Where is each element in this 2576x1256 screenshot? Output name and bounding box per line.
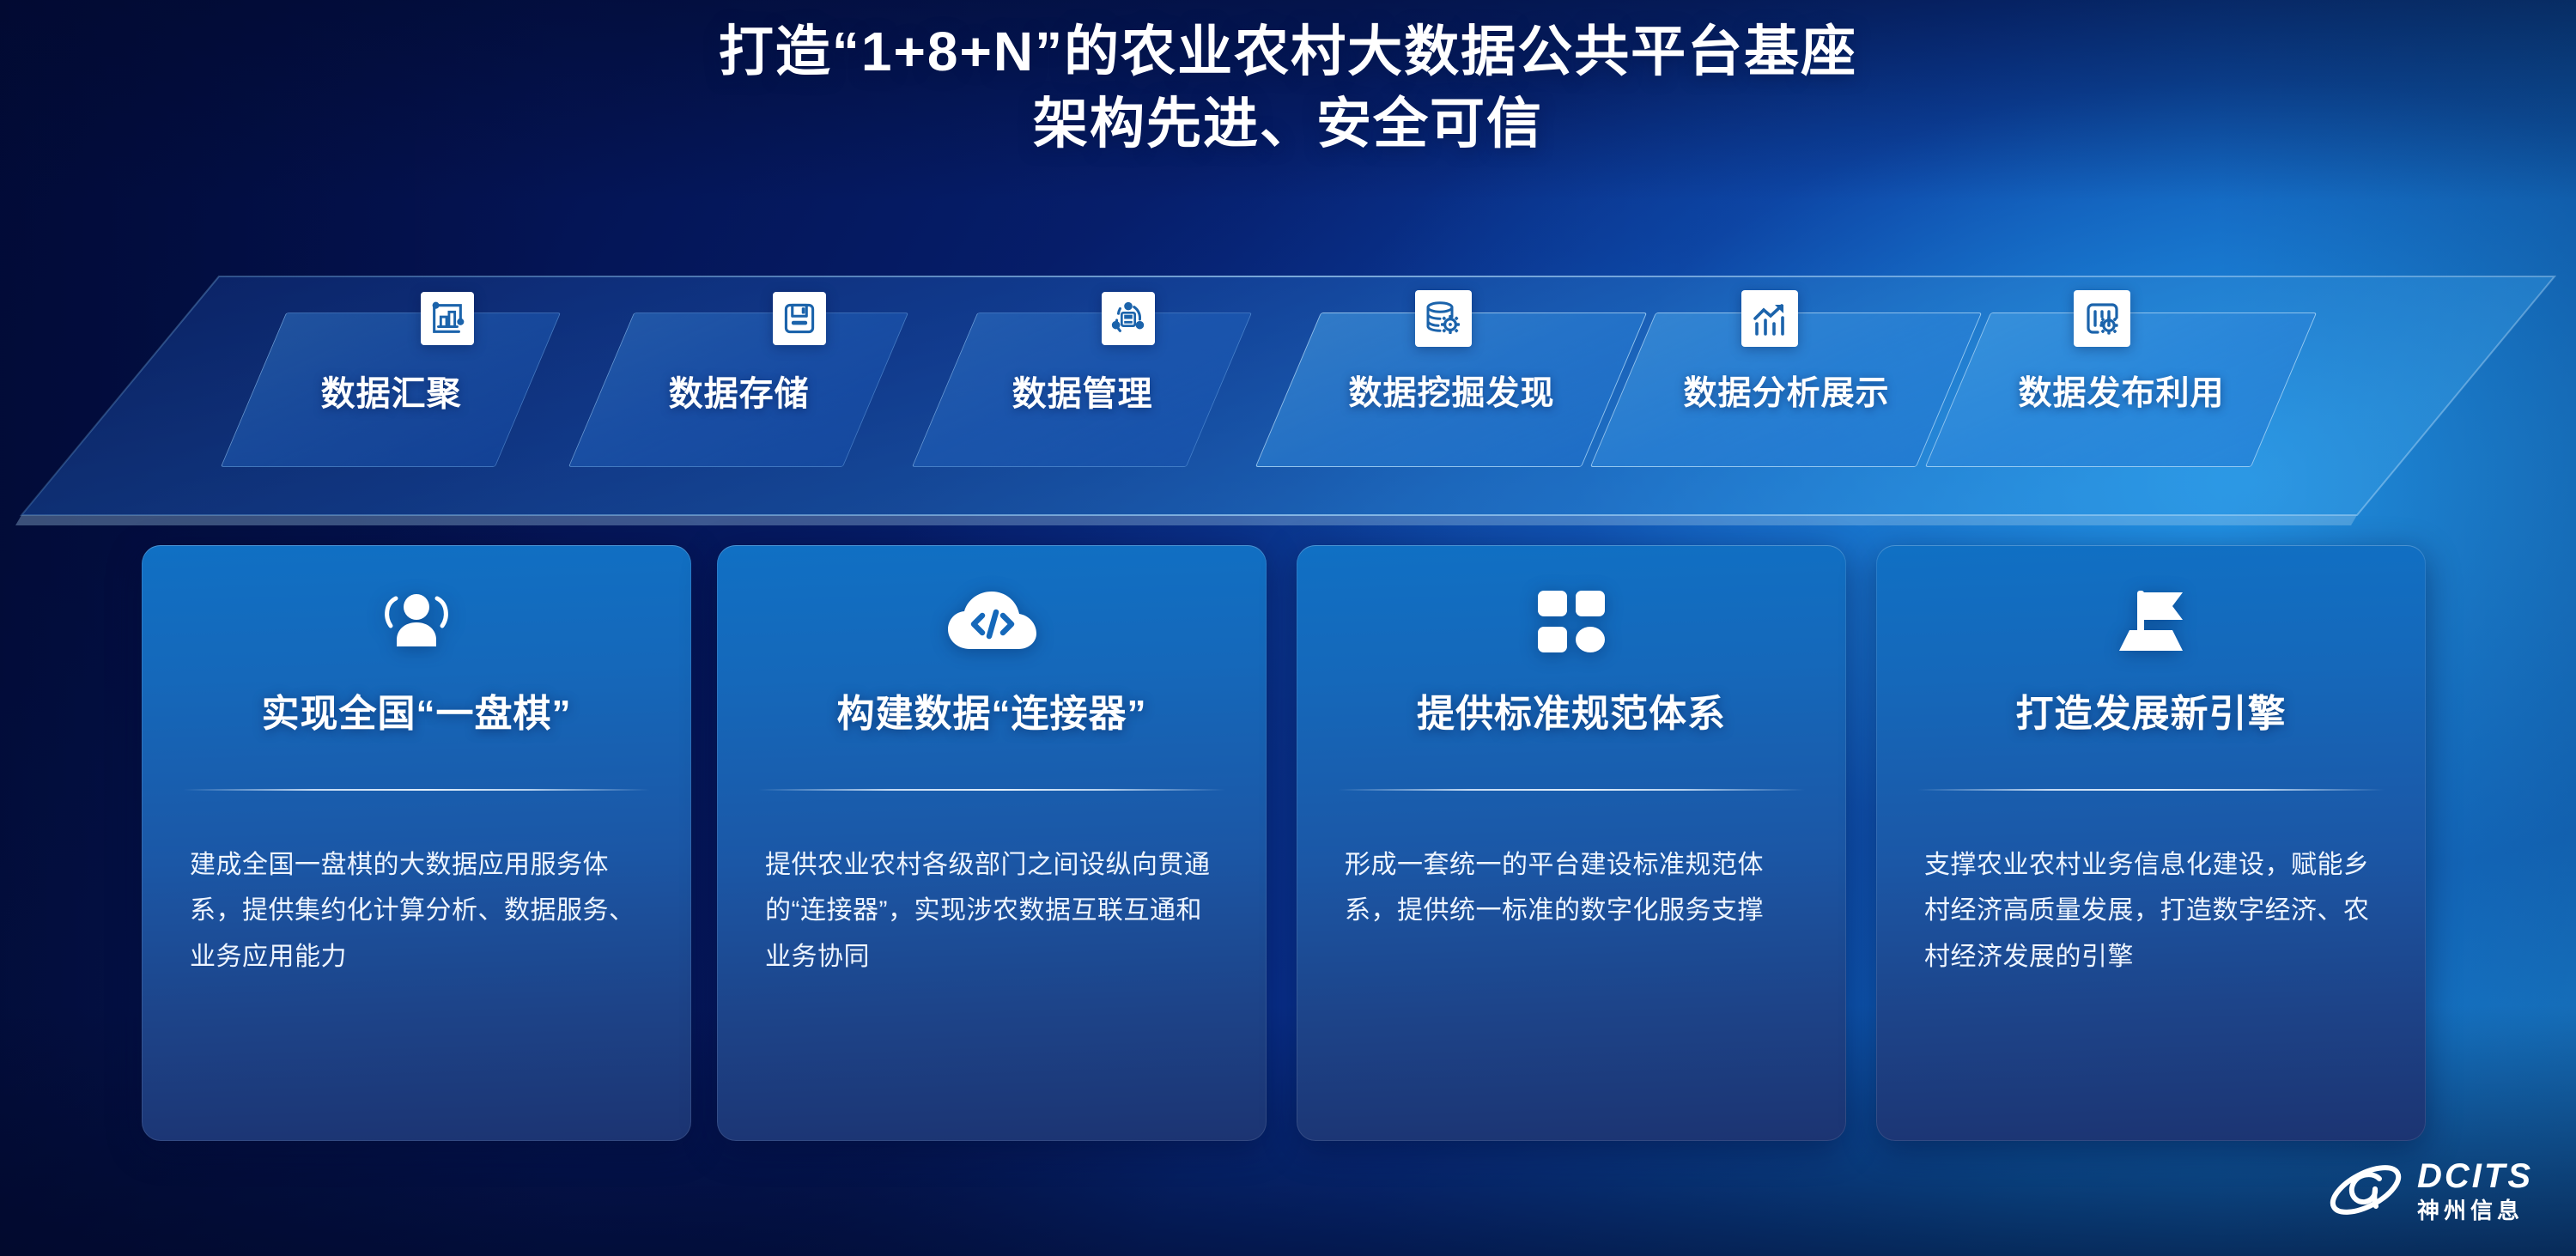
benefit-card-1[interactable]: 实现全国“一盘棋” 建成全国一盘棋的大数据应用服务体系，提供集约化计算分析、数据… xyxy=(142,545,691,1141)
card-divider xyxy=(1917,789,2385,791)
pipeline-row: 数据汇聚 数据存储 xyxy=(0,258,2576,541)
benefit-card-1-title: 实现全国“一盘棋” xyxy=(142,683,691,737)
benefit-card-3[interactable]: 提供标准规范体系 形成一套统一的平台建设标准规范体系，提供统一标准的数字化服务支… xyxy=(1297,545,1846,1141)
card-divider xyxy=(758,789,1225,791)
bar-chart-frame-icon xyxy=(421,292,474,345)
benefit-card-4[interactable]: 打造发展新引擎 支撑农业农村业务信息化建设，赋能乡村经济高质量发展，打造数字经济… xyxy=(1876,545,2426,1141)
data-network-icon xyxy=(1102,292,1155,345)
benefit-card-2[interactable]: 构建数据“连接器” 提供农业农村各级部门之间设纵向贯通的“连接器”，实现涉农数据… xyxy=(717,545,1267,1141)
slide-canvas: 打造“1+8+N”的农业农村大数据公共平台基座 架构先进、安全可信 xyxy=(0,0,2576,1256)
benefit-card-3-body: 形成一套统一的平台建设标准规范体系，提供统一标准的数字化服务支撑 xyxy=(1345,842,1800,934)
title-line-2: 架构先进、安全可信 xyxy=(0,88,2576,160)
database-gear-icon xyxy=(1415,290,1472,347)
users-group-icon xyxy=(142,585,691,658)
benefit-card-3-title: 提供标准规范体系 xyxy=(1297,683,1846,737)
benefit-card-4-title: 打造发展新引擎 xyxy=(1876,683,2426,737)
cloud-code-icon xyxy=(717,585,1267,658)
benefit-card-2-body: 提供农业农村各级部门之间设纵向贯通的“连接器”，实现涉农数据互联互通和业务协同 xyxy=(765,842,1220,980)
pipeline-step-3[interactable]: 数据管理 xyxy=(912,312,1252,467)
pipeline-step-3-label: 数据管理 xyxy=(945,313,1220,468)
logo-cn-text: 神州信息 xyxy=(2417,1199,2533,1222)
pipeline-step-1-label: 数据汇聚 xyxy=(254,313,529,468)
pipeline-step-1[interactable]: 数据汇聚 xyxy=(221,312,561,467)
trend-up-bars-icon xyxy=(1741,290,1798,347)
card-divider xyxy=(1338,789,1805,791)
four-blocks-icon xyxy=(1297,585,1846,658)
logo-en-text: DCITS xyxy=(2417,1159,2533,1193)
benefit-card-2-title: 构建数据“连接器” xyxy=(717,683,1267,737)
page-title: 打造“1+8+N”的农业农村大数据公共平台基座 架构先进、安全可信 xyxy=(0,15,2576,161)
pipeline-step-2[interactable]: 数据存储 xyxy=(568,312,908,467)
floppy-disk-icon xyxy=(773,292,826,345)
benefit-card-1-body: 建成全国一盘棋的大数据应用服务体系，提供集约化计算分析、数据服务、业务应用能力 xyxy=(190,842,645,980)
pipeline-step-2-label: 数据存储 xyxy=(602,313,877,468)
dcits-orbit-icon xyxy=(2326,1156,2405,1223)
title-line-1: 打造“1+8+N”的农业农村大数据公共平台基座 xyxy=(0,15,2576,88)
benefit-cards: 实现全国“一盘棋” 建成全国一盘棋的大数据应用服务体系，提供集约化计算分析、数据… xyxy=(0,545,2576,1141)
flag-base-icon xyxy=(1876,585,2426,658)
dcits-logo: DCITS 神州信息 xyxy=(2326,1156,2533,1223)
card-divider xyxy=(183,789,650,791)
panel-gear-icon xyxy=(2074,290,2130,347)
benefit-card-4-body: 支撑农业农村业务信息化建设，赋能乡村经济高质量发展，打造数字经济、农村经济发展的… xyxy=(1924,842,2379,980)
